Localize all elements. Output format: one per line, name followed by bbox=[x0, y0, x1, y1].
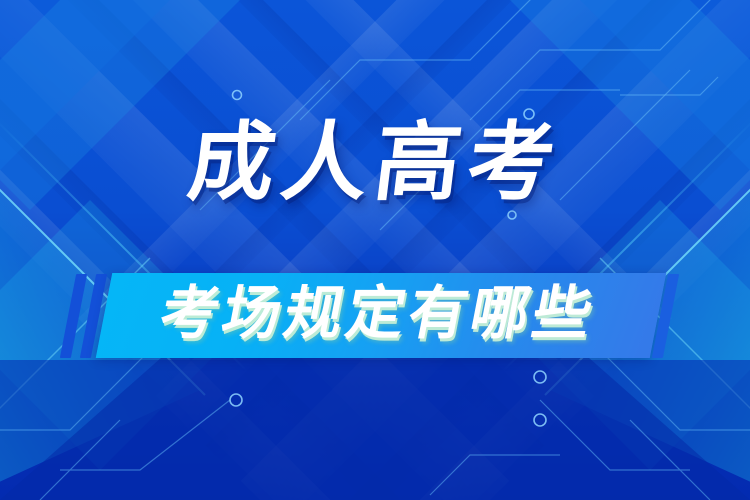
subtitle-banner bbox=[0, 262, 750, 366]
poster-canvas: 成人高考 考场规定有哪些 bbox=[0, 0, 750, 500]
background-artwork bbox=[0, 0, 750, 500]
banner-plate bbox=[96, 273, 667, 358]
